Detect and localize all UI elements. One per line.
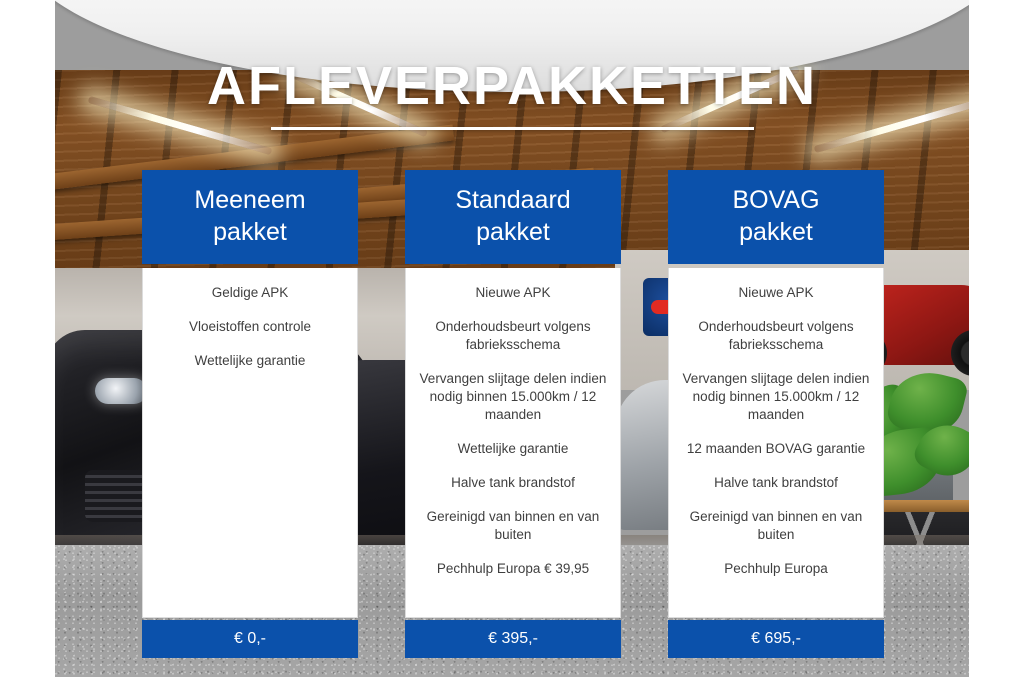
package-feature-list: Nieuwe APK Onderhoudsbeurt volgens fabri… [405, 268, 621, 618]
package-price[interactable]: € 395,- [405, 620, 621, 658]
package-feature: Pechhulp Europa [681, 560, 871, 578]
package-title-line2: pakket [150, 216, 350, 248]
package-title-line1: BOVAG [676, 184, 876, 216]
package-feature: Onderhoudsbeurt volgens fabrieksschema [681, 318, 871, 354]
package-price[interactable]: € 695,- [668, 620, 884, 658]
slide-canvas: AFLEVERPAKKETTEN Meeneem pakket Geldige … [0, 0, 1024, 683]
package-cards: Meeneem pakket Geldige APK Vloeistoffen … [0, 0, 1024, 683]
package-feature: Nieuwe APK [418, 284, 608, 302]
bottom-white-margin [0, 677, 1024, 683]
package-feature: 12 maanden BOVAG garantie [681, 440, 871, 458]
package-feature: Gereinigd van binnen en van buiten [418, 508, 608, 544]
package-price[interactable]: € 0,- [142, 620, 358, 658]
package-card-standaard[interactable]: Standaard pakket Nieuwe APK Onderhoudsbe… [405, 170, 621, 658]
package-feature: Vervangen slijtage delen indien nodig bi… [681, 370, 871, 424]
package-feature: Wettelijke garantie [418, 440, 608, 458]
package-feature-list: Geldige APK Vloeistoffen controle Wettel… [142, 268, 358, 618]
package-feature: Gereinigd van binnen en van buiten [681, 508, 871, 544]
package-card-header: Meeneem pakket [142, 170, 358, 264]
package-feature: Vloeistoffen controle [155, 318, 345, 336]
package-feature: Wettelijke garantie [155, 352, 345, 370]
package-feature: Halve tank brandstof [681, 474, 871, 492]
package-feature: Halve tank brandstof [418, 474, 608, 492]
package-feature: Pechhulp Europa € 39,95 [418, 560, 608, 578]
package-card-meeneem[interactable]: Meeneem pakket Geldige APK Vloeistoffen … [142, 170, 358, 658]
package-title-line1: Standaard [413, 184, 613, 216]
package-feature: Geldige APK [155, 284, 345, 302]
package-title-line1: Meeneem [150, 184, 350, 216]
package-feature: Nieuwe APK [681, 284, 871, 302]
package-card-header: BOVAG pakket [668, 170, 884, 264]
package-title-line2: pakket [413, 216, 613, 248]
package-feature-list: Nieuwe APK Onderhoudsbeurt volgens fabri… [668, 268, 884, 618]
package-feature: Vervangen slijtage delen indien nodig bi… [418, 370, 608, 424]
package-feature: Onderhoudsbeurt volgens fabrieksschema [418, 318, 608, 354]
package-card-bovag[interactable]: BOVAG pakket Nieuwe APK Onderhoudsbeurt … [668, 170, 884, 658]
package-title-line2: pakket [676, 216, 876, 248]
package-card-header: Standaard pakket [405, 170, 621, 264]
